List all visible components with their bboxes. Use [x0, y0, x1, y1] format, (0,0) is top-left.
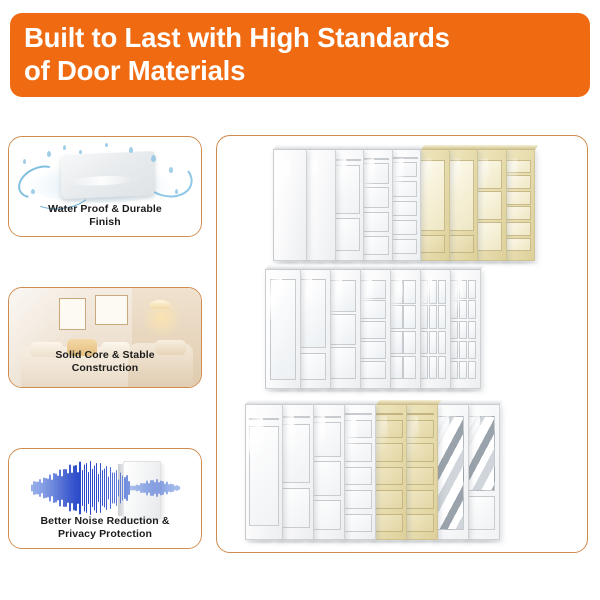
door-panel-insert: [477, 160, 502, 189]
door-molding-line: [373, 413, 404, 415]
door-panel-insert: [505, 175, 530, 189]
door-panel-insert: [429, 280, 438, 303]
door-panel-insert: [459, 361, 468, 379]
mirror-glass: [467, 416, 494, 491]
door-panel-insert: [362, 212, 388, 233]
door-panel-insert: [459, 321, 468, 339]
door-panel-insert: [360, 300, 387, 318]
door-panel-insert: [505, 191, 530, 205]
door-molding-line: [333, 159, 361, 161]
door-panel-insert: [391, 181, 417, 196]
door-panel-insert: [373, 443, 403, 462]
door-panel-insert: [360, 341, 387, 359]
door-panel-insert: [390, 331, 403, 354]
door-panel-insert: [373, 467, 403, 486]
door-panel-insert: [505, 238, 530, 252]
door-panel-insert: [403, 280, 416, 303]
feature-caption: Water Proof & Durable Finish: [9, 203, 201, 229]
door-panel-insert: [390, 280, 403, 303]
door-white-full-lite[interactable]: [265, 269, 301, 389]
door-molding-line: [404, 413, 435, 415]
header-banner: Built to Last with High Standards of Doo…: [10, 13, 590, 97]
door-panel-insert: [404, 490, 434, 509]
door-panel-insert: [280, 488, 310, 528]
page-title: Built to Last with High Standards of Doo…: [24, 21, 576, 87]
door-panel-insert: [373, 514, 403, 533]
door-panel-insert: [438, 331, 447, 354]
door-panel-insert: [429, 305, 438, 328]
door-panel-insert: [468, 361, 477, 379]
door-panel-insert: [403, 331, 416, 354]
door-row-panel-wood-mirror: [217, 396, 587, 546]
door-panel-insert: [360, 321, 387, 339]
door-panel-insert: [459, 280, 468, 298]
door-panel-insert: [342, 443, 372, 462]
door-panel-insert: [429, 331, 438, 354]
door-panel-insert: [391, 239, 417, 254]
door-panel-insert: [362, 187, 388, 208]
door-molding-line: [390, 157, 418, 159]
door-white-one-panel[interactable]: [245, 404, 283, 540]
door-panel-insert: [477, 222, 502, 251]
door-panel-insert: [342, 420, 372, 439]
door-panel-insert: [448, 160, 474, 232]
door-panel-insert: [249, 426, 279, 525]
feature-card-water-proof[interactable]: Water Proof & Durable Finish: [8, 136, 202, 237]
door-panel-insert: [342, 514, 372, 533]
door-panel-insert: [505, 222, 530, 236]
door-panel-insert: [420, 235, 446, 254]
door-panel-insert: [403, 356, 416, 379]
door-panel-insert: [468, 321, 477, 339]
door-panel-insert: [330, 347, 357, 379]
door-panel-insert: [468, 300, 477, 318]
door-panel-insert: [468, 341, 477, 359]
door-molding-line: [342, 413, 373, 415]
door-panel-insert: [448, 235, 474, 254]
door-panel-insert: [311, 500, 341, 530]
door-panel-insert: [477, 191, 502, 220]
door-panel-insert: [391, 201, 417, 216]
door-panel-insert: [362, 163, 388, 184]
door-panel-insert: [438, 356, 447, 379]
door-panel-insert: [390, 305, 403, 328]
feature-card-solid-core[interactable]: Solid Core & Stable Construction: [8, 287, 202, 388]
door-panel-insert: [330, 280, 357, 312]
feature-card-noise-reduction[interactable]: Better Noise Reduction & Privacy Protect…: [8, 448, 202, 549]
door-panel-insert: [334, 165, 360, 213]
door-panel-insert: [373, 490, 403, 509]
door-panel-insert: [300, 353, 327, 380]
door-panel-insert: [270, 279, 297, 379]
door-panel-insert: [468, 280, 477, 298]
door-panel-insert: [420, 160, 446, 232]
feature-caption: Solid Core & Stable Construction: [9, 349, 201, 375]
door-panel-insert: [300, 279, 327, 347]
door-panel-insert: [459, 300, 468, 318]
door-panel-insert: [311, 461, 341, 496]
door-molding-line: [362, 158, 390, 160]
door-panel-insert: [360, 361, 387, 379]
door-white-flush[interactable]: [273, 149, 307, 261]
door-molding-line: [249, 418, 280, 420]
door-panel-insert: [429, 356, 438, 379]
door-molding-line: [311, 416, 342, 418]
feature-caption: Better Noise Reduction & Privacy Protect…: [9, 515, 201, 541]
door-panel-insert: [362, 236, 388, 255]
door-panel-insert: [373, 420, 403, 439]
door-panel-insert: [403, 305, 416, 328]
door-panel-insert: [342, 490, 372, 509]
door-panel-insert: [391, 220, 417, 235]
door-panel-insert: [404, 443, 434, 462]
door-panel-insert: [391, 162, 417, 177]
door-row-flush-and-glass: [217, 142, 587, 267]
door-panel-insert: [404, 514, 434, 533]
door-molding-line: [280, 416, 311, 418]
door-panel-insert: [360, 280, 387, 298]
door-panel-insert: [505, 160, 530, 174]
door-panel-insert: [467, 496, 494, 530]
door-panel-insert: [505, 206, 530, 220]
door-panel-insert: [404, 420, 434, 439]
door-panel-insert: [438, 280, 447, 303]
door-panel-insert: [311, 422, 341, 457]
door-panel-insert: [390, 356, 403, 379]
door-collection-showcase: [216, 135, 588, 553]
door-panel-insert: [342, 467, 372, 486]
door-row-glass-lite: [217, 263, 587, 395]
door-panel-insert: [330, 314, 357, 346]
door-panel-insert: [334, 218, 360, 251]
door-panel-insert: [438, 305, 447, 328]
door-panel-insert: [280, 424, 310, 483]
door-panel-insert: [404, 467, 434, 486]
mirror-glass: [436, 416, 463, 530]
door-panel-insert: [459, 341, 468, 359]
